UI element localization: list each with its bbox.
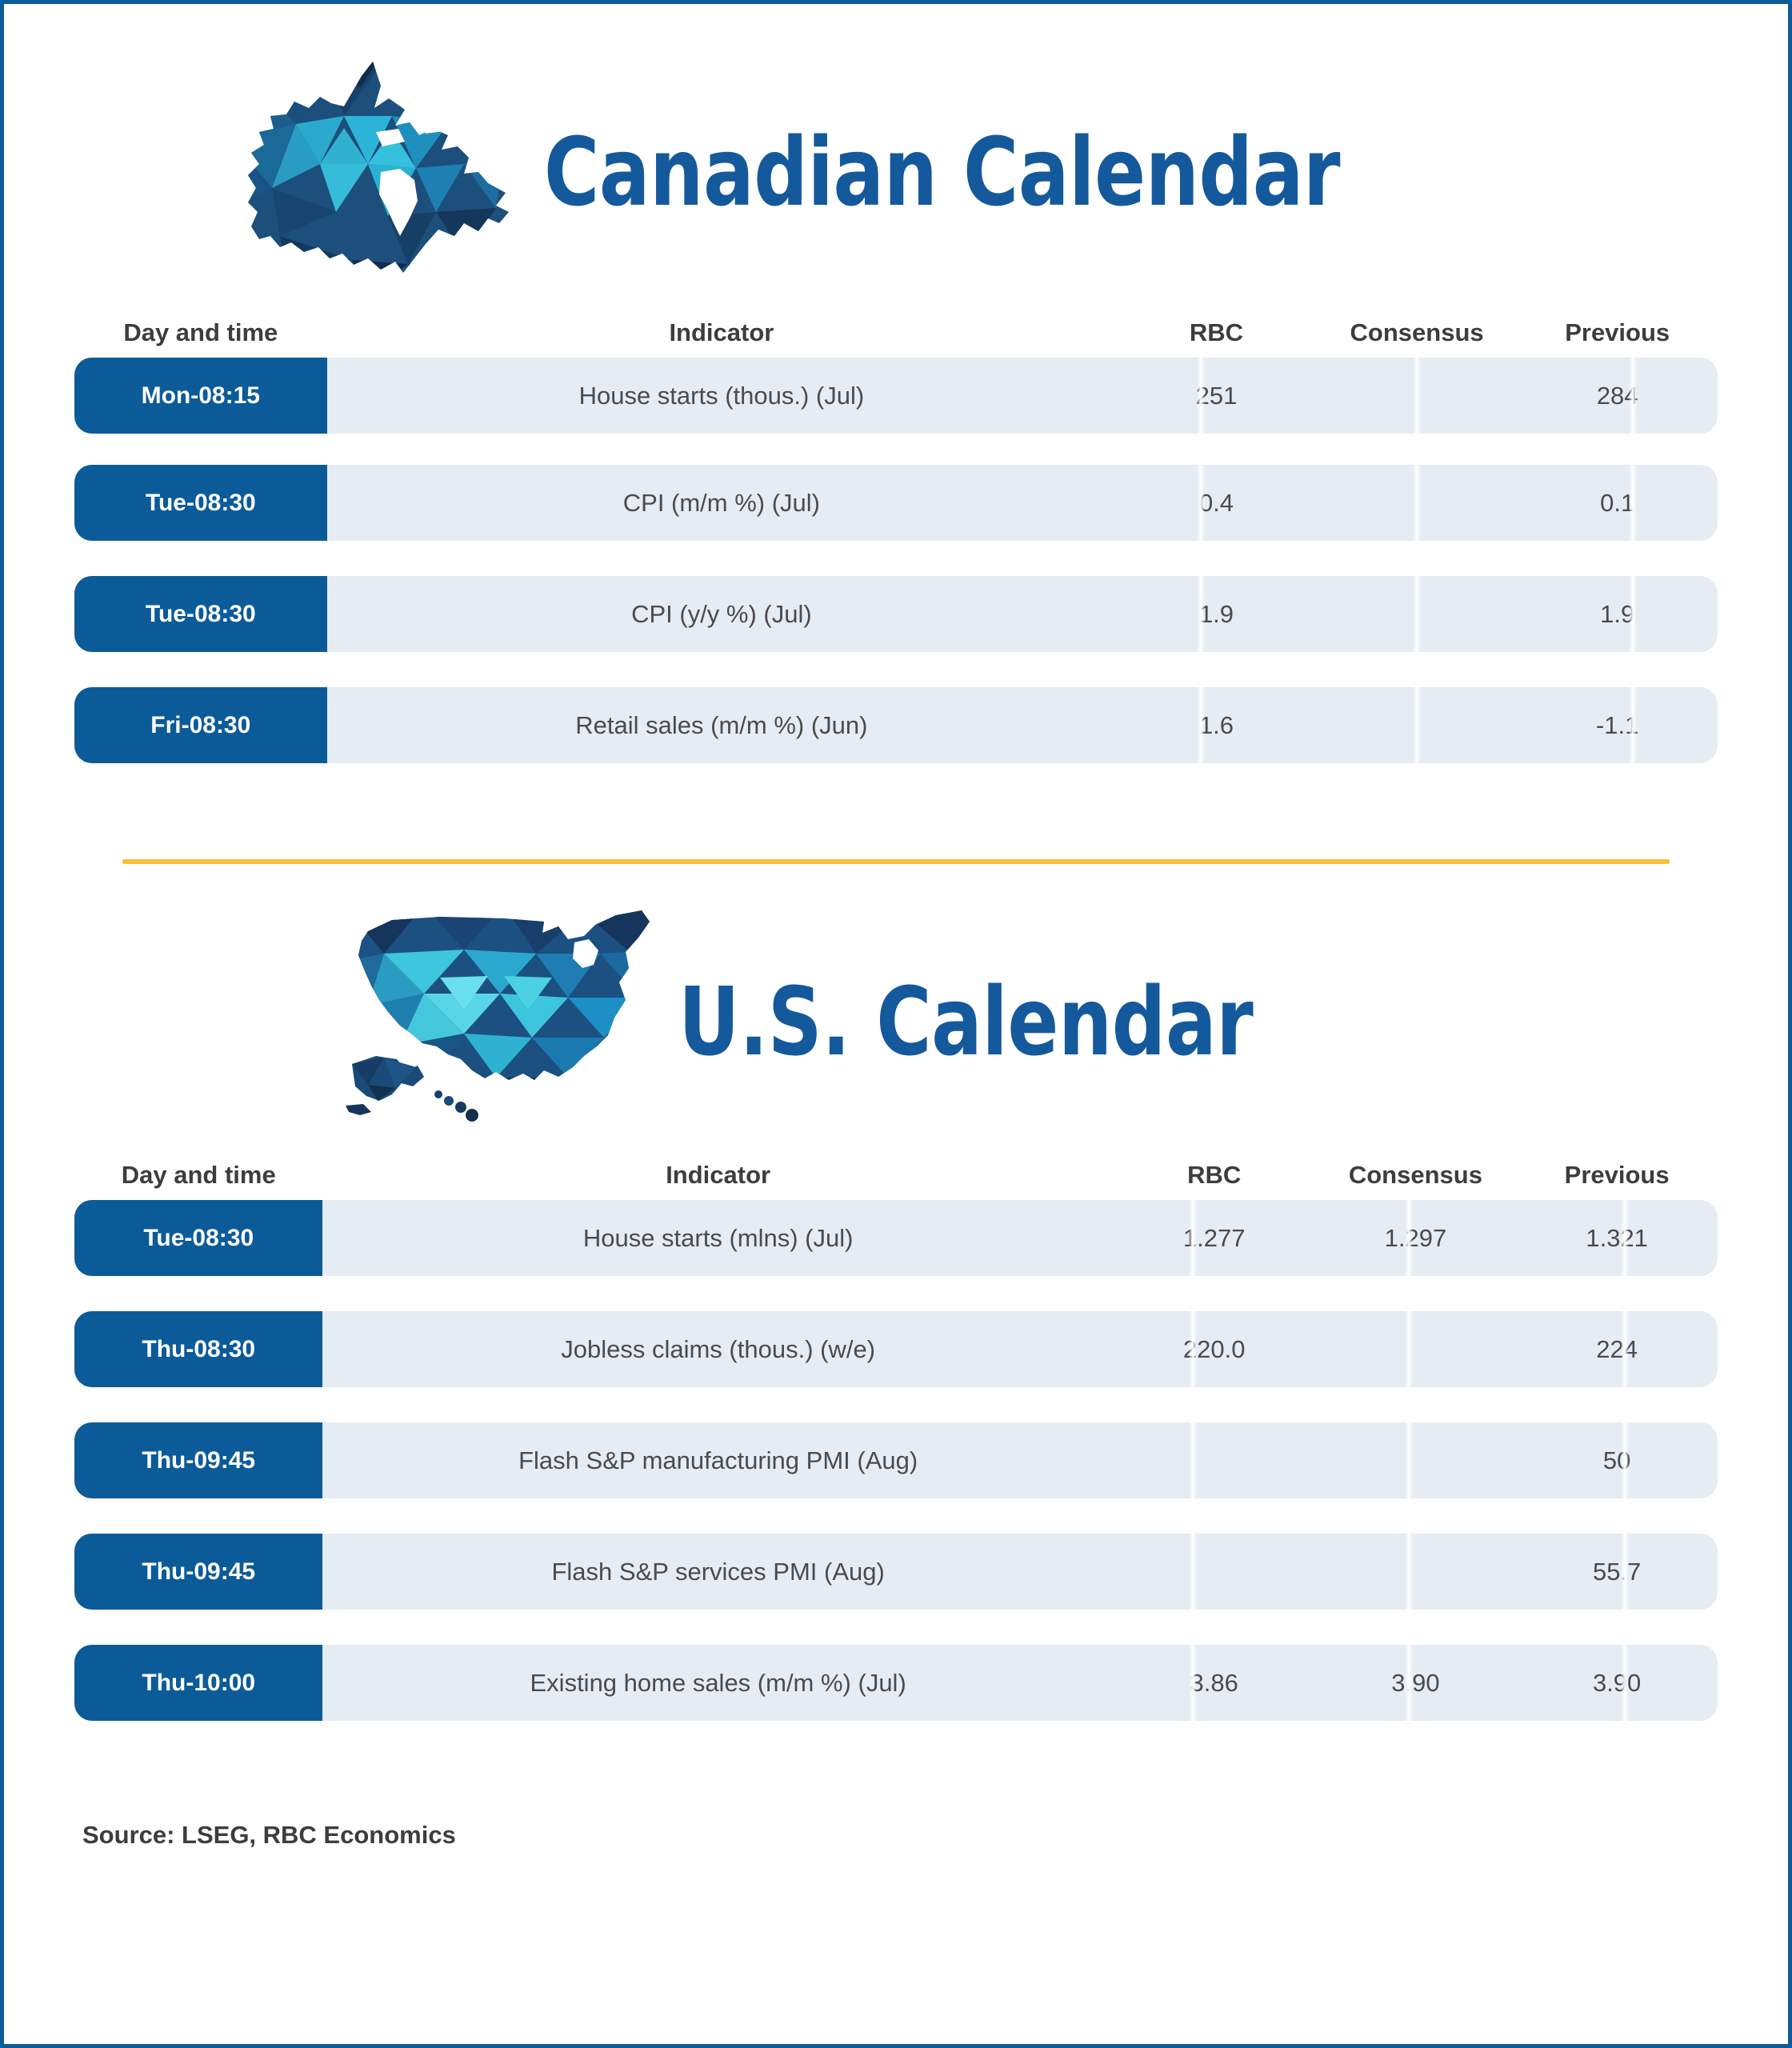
cell-previous: 3.90 — [1516, 1645, 1718, 1721]
table-row[interactable]: Thu-09:45 Flash S&P manufacturing PMI (A… — [74, 1422, 1718, 1498]
us-table-header: Day and time Indicator RBC Consensus Pre… — [74, 1138, 1718, 1187]
table-row[interactable]: Tue-08:30 CPI (y/y %) (Jul) 1.9 1.9 — [74, 576, 1718, 652]
us-calendar-table: Day and time Indicator RBC Consensus Pre… — [74, 1138, 1718, 1721]
cell-consensus — [1317, 576, 1518, 652]
cell-day-and-time: Thu-09:45 — [74, 1534, 322, 1610]
cell-indicator: Jobless claims (thous.) (w/e) — [322, 1311, 1113, 1387]
cell-rbc: 3.86 — [1114, 1645, 1315, 1721]
column-header-previous: Previous — [1517, 320, 1718, 345]
cell-day-and-time: Tue-08:30 — [74, 576, 327, 652]
cell-day-and-time: Thu-10:00 — [74, 1645, 322, 1721]
table-row[interactable]: Mon-08:15 House starts (thous.) (Jul) 25… — [74, 358, 1718, 434]
cell-indicator: Flash S&P manufacturing PMI (Aug) — [322, 1422, 1113, 1498]
column-header-day-and-time: Day and time — [74, 320, 327, 345]
cell-previous: 284 — [1517, 358, 1718, 434]
cell-previous: 224 — [1516, 1311, 1718, 1387]
column-header-consensus: Consensus — [1315, 1162, 1517, 1187]
cell-day-and-time: Tue-08:30 — [74, 1200, 322, 1276]
cell-previous: 55.7 — [1516, 1534, 1718, 1610]
cell-rbc — [1114, 1422, 1315, 1498]
cell-consensus: 1.297 — [1315, 1200, 1517, 1276]
cell-rbc — [1114, 1534, 1315, 1610]
cell-indicator: Retail sales (m/m %) (Jun) — [327, 687, 1117, 763]
column-header-rbc: RBC — [1116, 320, 1317, 345]
cell-rbc: 0.4 — [1116, 465, 1317, 541]
cell-indicator: House starts (thous.) (Jul) — [327, 358, 1117, 434]
cell-previous: 0.1 — [1517, 465, 1718, 541]
cell-consensus: 3.90 — [1315, 1645, 1517, 1721]
usa-map-icon — [344, 906, 664, 1138]
canada-map-icon — [224, 52, 536, 292]
cell-consensus — [1315, 1534, 1517, 1610]
cell-day-and-time: Fri-08:30 — [74, 687, 327, 763]
column-header-indicator: Indicator — [322, 1162, 1113, 1187]
canada-section-header: Canadian Calendar — [224, 52, 1788, 292]
cell-indicator: CPI (m/m %) (Jul) — [327, 465, 1117, 541]
cell-previous: 1.9 — [1517, 576, 1718, 652]
cell-indicator: Flash S&P services PMI (Aug) — [322, 1534, 1113, 1610]
cell-consensus — [1315, 1311, 1517, 1387]
source-note: Source: LSEG, RBC Economics — [82, 1821, 1788, 1850]
cell-day-and-time: Mon-08:15 — [74, 358, 327, 434]
us-section-header: U.S. Calendar — [344, 906, 1788, 1138]
cell-consensus — [1317, 687, 1518, 763]
table-row[interactable]: Thu-10:00 Existing home sales (m/m %) (J… — [74, 1645, 1718, 1721]
cell-rbc: 220.0 — [1114, 1311, 1315, 1387]
canada-section-title: Canadian Calendar — [544, 117, 1340, 227]
column-header-previous: Previous — [1516, 1162, 1718, 1187]
table-row[interactable]: Fri-08:30 Retail sales (m/m %) (Jun) 1.6… — [74, 687, 1718, 763]
us-section-title: U.S. Calendar — [678, 966, 1253, 1077]
section-divider — [122, 859, 1670, 864]
cell-indicator: Existing home sales (m/m %) (Jul) — [322, 1645, 1113, 1721]
cell-rbc: 1.277 — [1114, 1200, 1315, 1276]
column-header-indicator: Indicator — [327, 320, 1117, 345]
table-row[interactable]: Tue-08:30 House starts (mlns) (Jul) 1.27… — [74, 1200, 1718, 1276]
cell-day-and-time: Thu-09:45 — [74, 1422, 322, 1498]
table-row[interactable]: Thu-09:45 Flash S&P services PMI (Aug) 5… — [74, 1534, 1718, 1610]
column-header-consensus: Consensus — [1317, 320, 1518, 345]
cell-consensus — [1317, 465, 1518, 541]
canada-table-header: Day and time Indicator RBC Consensus Pre… — [74, 295, 1718, 345]
cell-rbc: 1.6 — [1116, 687, 1317, 763]
cell-day-and-time: Thu-08:30 — [74, 1311, 322, 1387]
cell-consensus — [1317, 358, 1518, 434]
table-row[interactable]: Thu-08:30 Jobless claims (thous.) (w/e) … — [74, 1311, 1718, 1387]
canada-calendar-table: Day and time Indicator RBC Consensus Pre… — [74, 295, 1718, 763]
cell-rbc: 1.9 — [1116, 576, 1317, 652]
column-header-rbc: RBC — [1114, 1162, 1315, 1187]
cell-indicator: House starts (mlns) (Jul) — [322, 1200, 1113, 1276]
column-header-day-and-time: Day and time — [74, 1162, 322, 1187]
cell-consensus — [1315, 1422, 1517, 1498]
calendar-infographic: Canadian Calendar Day and time Indicator… — [0, 0, 1792, 2048]
table-row[interactable]: Tue-08:30 CPI (m/m %) (Jul) 0.4 0.1 — [74, 465, 1718, 541]
cell-day-and-time: Tue-08:30 — [74, 465, 327, 541]
cell-previous: -1.1 — [1517, 687, 1718, 763]
cell-rbc: 251 — [1116, 358, 1317, 434]
cell-previous: 50 — [1516, 1422, 1718, 1498]
cell-previous: 1.321 — [1516, 1200, 1718, 1276]
cell-indicator: CPI (y/y %) (Jul) — [327, 576, 1117, 652]
